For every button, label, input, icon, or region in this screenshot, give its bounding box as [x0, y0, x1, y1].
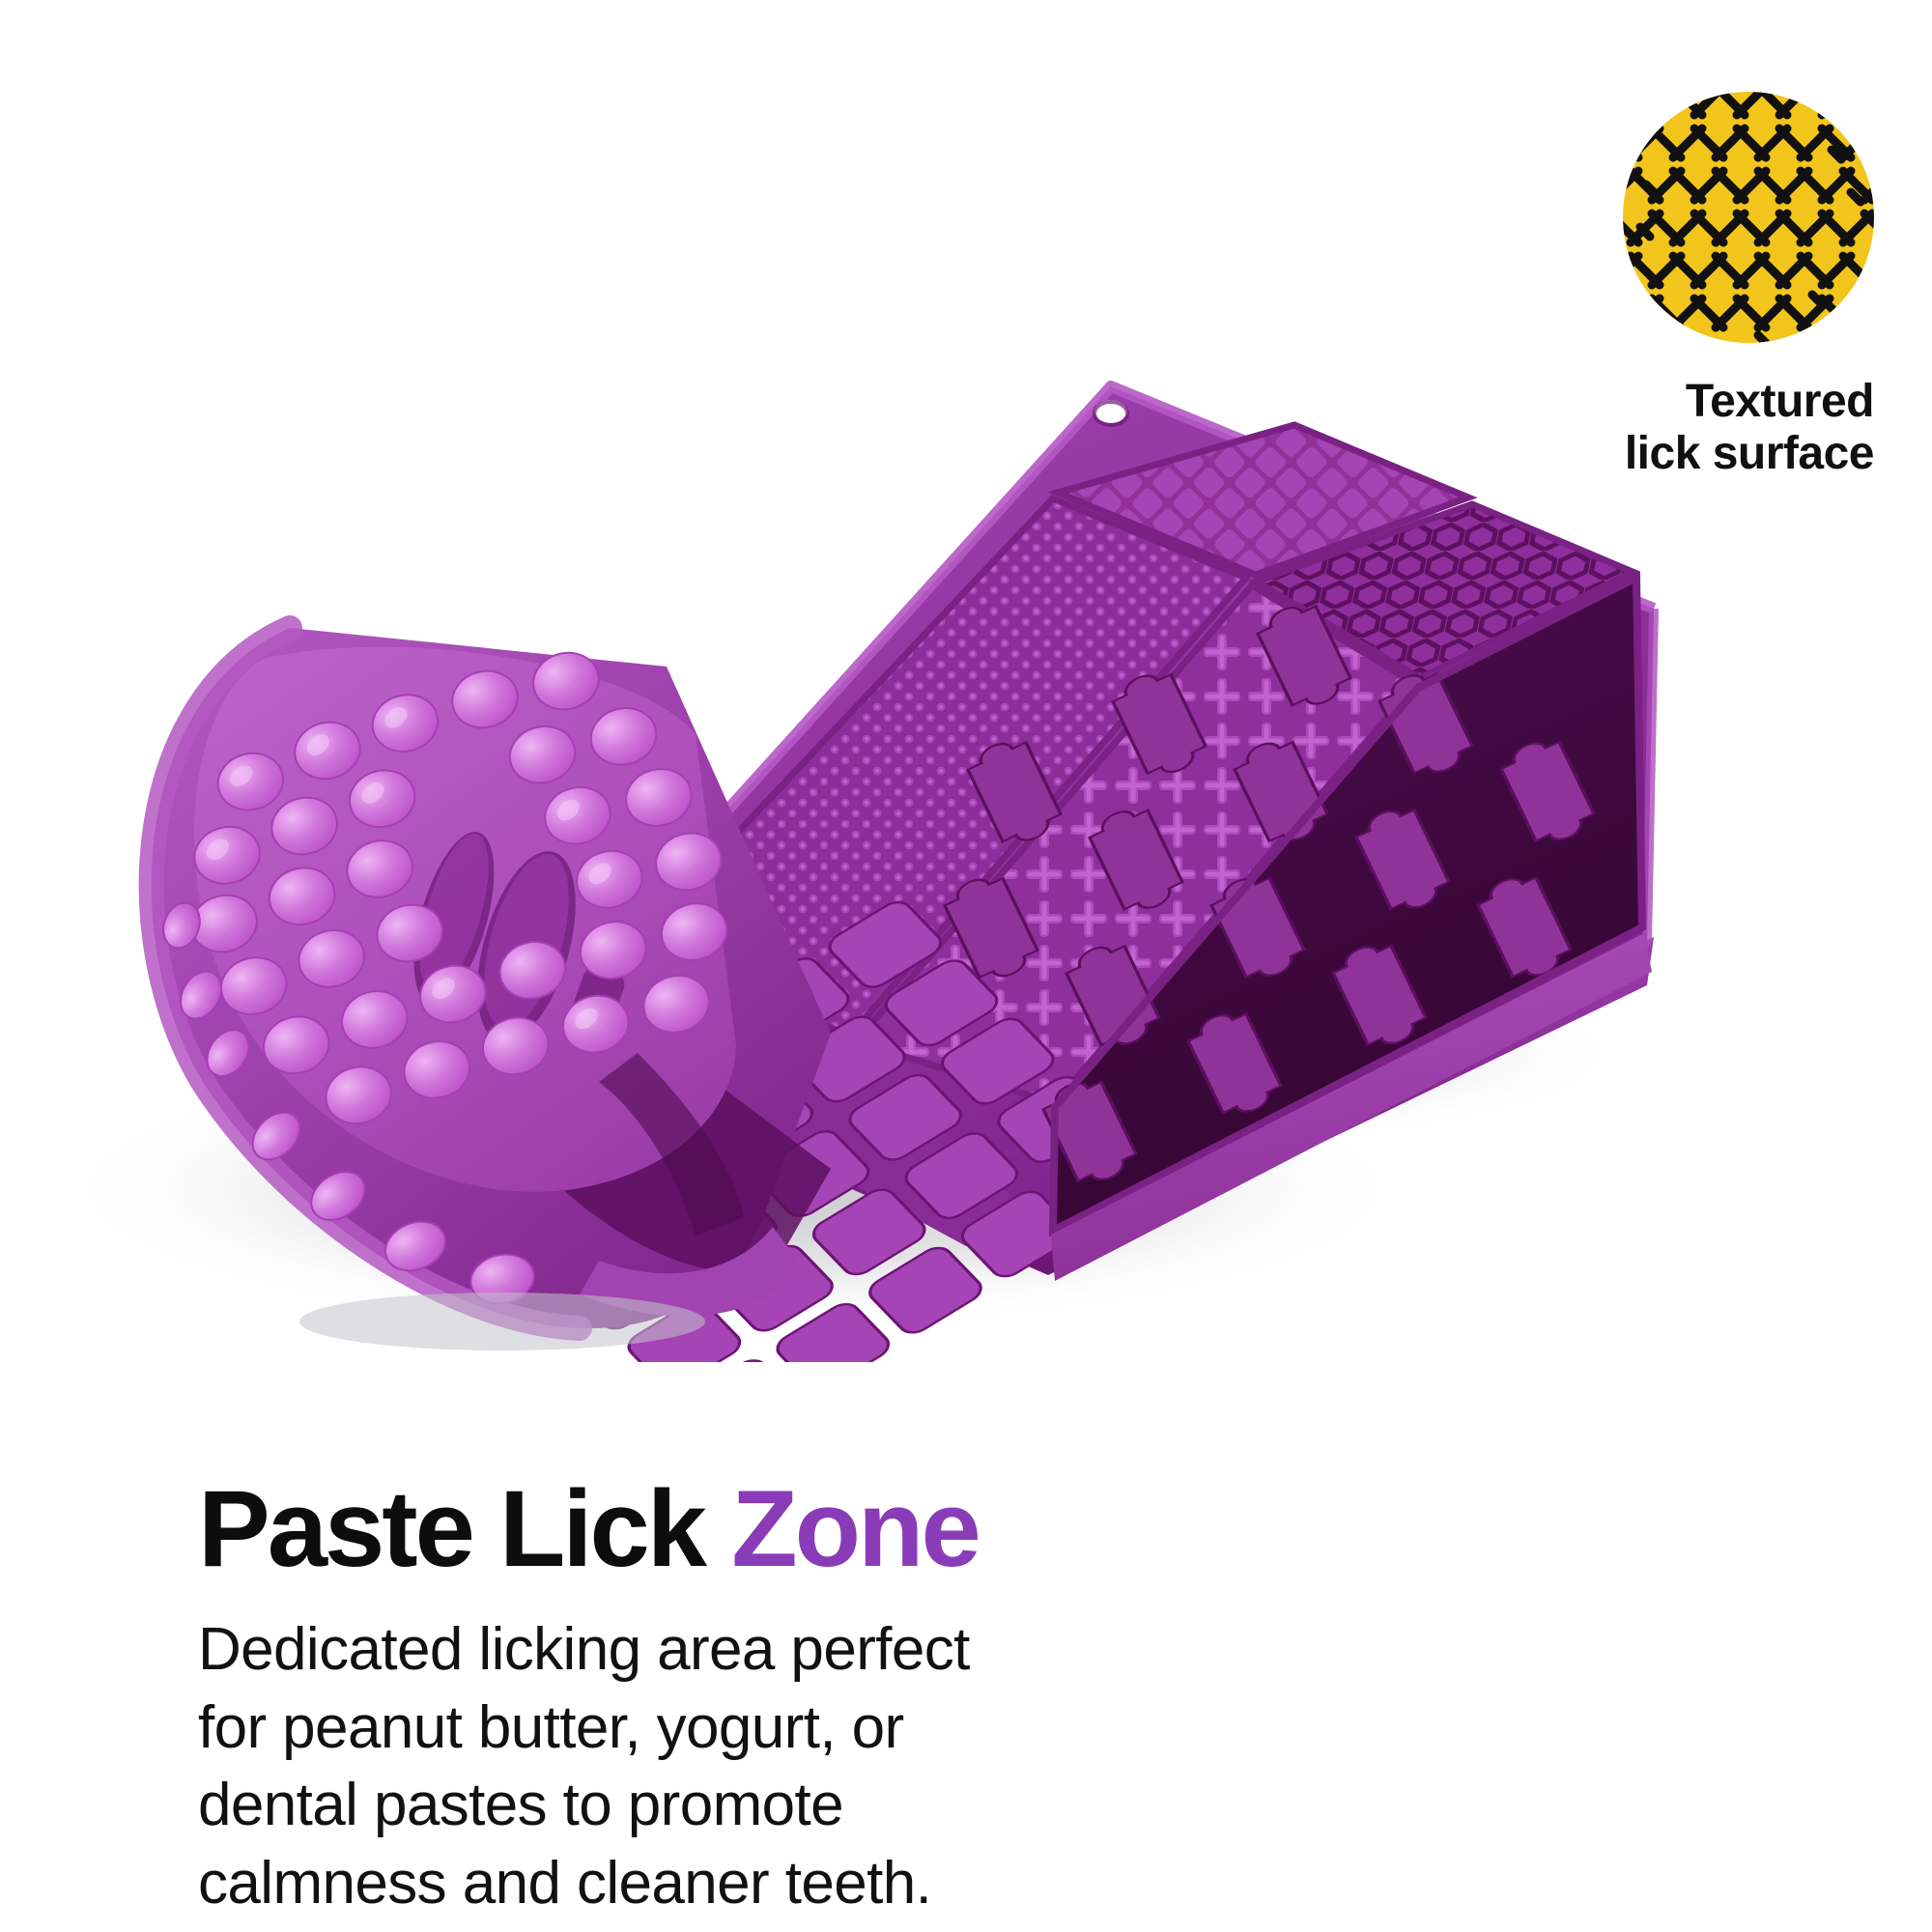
infographic-canvas: Texturedlick surface: [0, 0, 1932, 1932]
textured-weave-icon: [1623, 92, 1874, 343]
description-line-3: dental pastes to promote: [198, 1767, 1116, 1845]
page-title: Paste Lick Zone: [198, 1475, 979, 1583]
hang-hole: [1094, 400, 1127, 425]
feature-description: Dedicated licking area perfect for peanu…: [198, 1611, 1116, 1922]
headline-black: Paste Lick: [198, 1468, 731, 1589]
headline-accent: Zone: [731, 1468, 979, 1589]
description-line-4: calmness and cleaner teeth.: [198, 1845, 1116, 1923]
description-line-1: Dedicated licking area perfect: [198, 1611, 1116, 1690]
product-photo: [0, 319, 1758, 1362]
description-line-2: for peanut butter, yogurt, or: [198, 1690, 1116, 1768]
